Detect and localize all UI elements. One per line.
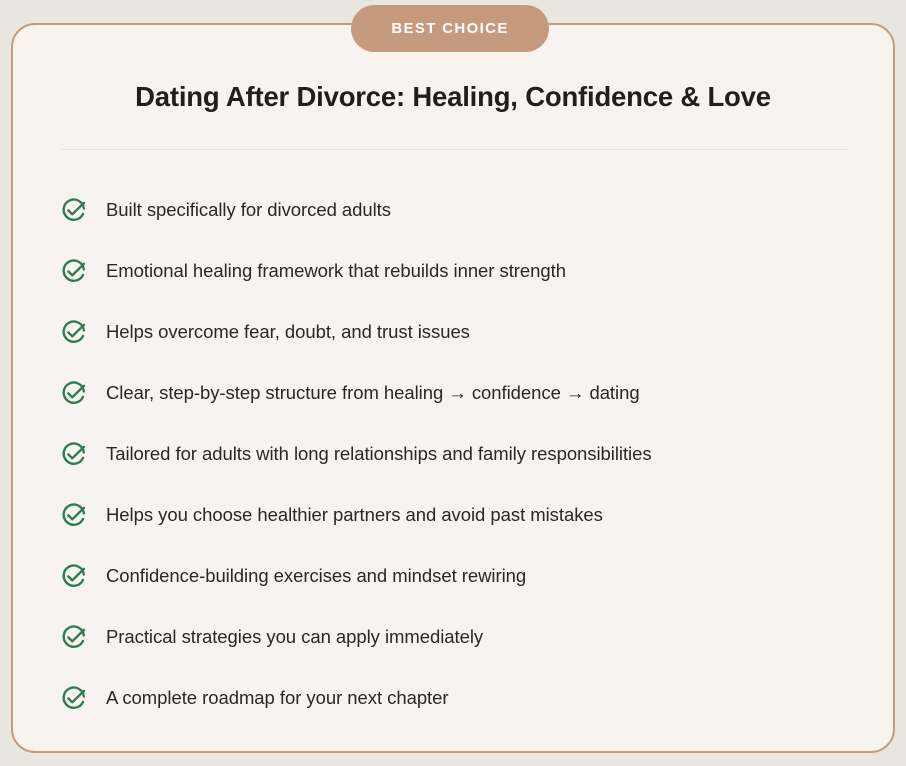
feature-label: Built specifically for divorced adults	[106, 198, 391, 223]
check-circle-icon	[60, 258, 87, 285]
feature-label: Clear, step-by-step structure from heali…	[106, 381, 640, 406]
status-badge-label: BEST CHOICE	[391, 21, 508, 36]
feature-label: Confidence-building exercises and mindse…	[106, 564, 526, 589]
best-choice-offer-card: Dating After Divorce: Healing, Confidenc…	[11, 23, 895, 753]
list-item: Practical strategies you can apply immed…	[60, 607, 863, 668]
status-badge: BEST CHOICE	[351, 5, 549, 52]
check-circle-icon	[60, 441, 87, 468]
check-circle-icon	[60, 563, 87, 590]
list-item: A complete roadmap for your next chapter	[60, 668, 863, 729]
feature-label: A complete roadmap for your next chapter	[106, 686, 449, 711]
check-circle-icon	[60, 502, 87, 529]
list-item: Confidence-building exercises and mindse…	[60, 546, 863, 607]
list-item: Clear, step-by-step structure from heali…	[60, 363, 863, 424]
offer-card-stage: Dating After Divorce: Healing, Confidenc…	[0, 0, 906, 766]
check-circle-icon	[60, 624, 87, 651]
list-item: Helps you choose healthier partners and …	[60, 485, 863, 546]
list-item: Tailored for adults with long relationsh…	[60, 424, 863, 485]
check-circle-icon	[60, 319, 87, 346]
feature-label: Helps overcome fear, doubt, and trust is…	[106, 320, 470, 345]
page-title: Dating After Divorce: Healing, Confidenc…	[13, 80, 893, 114]
title-divider	[62, 149, 848, 150]
feature-label: Emotional healing framework that rebuild…	[106, 259, 566, 284]
feature-label: Tailored for adults with long relationsh…	[106, 442, 652, 467]
feature-label: Helps you choose healthier partners and …	[106, 503, 603, 528]
check-circle-icon	[60, 685, 87, 712]
list-item: Helps overcome fear, doubt, and trust is…	[60, 302, 863, 363]
check-circle-icon	[60, 380, 87, 407]
feature-list: Built specifically for divorced adults E…	[60, 180, 863, 729]
check-circle-icon	[60, 197, 87, 224]
list-item: Built specifically for divorced adults	[60, 180, 863, 241]
feature-label: Practical strategies you can apply immed…	[106, 625, 483, 650]
list-item: Emotional healing framework that rebuild…	[60, 241, 863, 302]
